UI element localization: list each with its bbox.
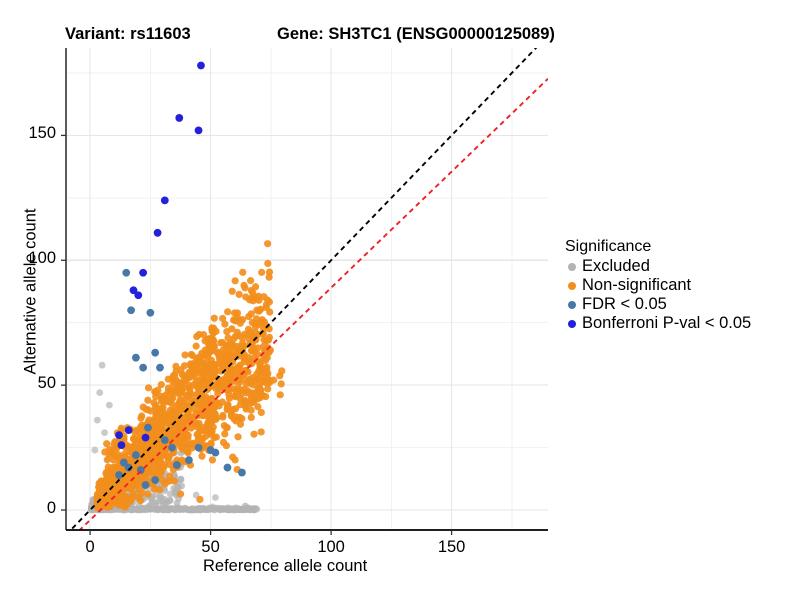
legend: Significance ExcludedNon-significantFDR … (563, 238, 800, 333)
legend-item-bonferroni-p-val-0-05: Bonferroni P-val < 0.05 (563, 314, 800, 333)
y-tick-label: 0 (0, 499, 56, 518)
x-axis-label: Reference allele count (203, 557, 367, 576)
y-axis-label: Alternative allele count (22, 177, 41, 407)
legend-dot-fdr-icon (563, 296, 580, 313)
legend-item-non-significant: Non-significant (563, 276, 800, 295)
legend-item-fdr-0-05: FDR < 0.05 (563, 295, 800, 314)
legend-item-label: Excluded (582, 257, 650, 276)
y-tick-label: 150 (0, 124, 56, 143)
x-tick-label: 100 (301, 538, 361, 557)
x-tick-label: 150 (422, 538, 482, 557)
legend-title: Significance (565, 238, 800, 256)
y-tick-label: 100 (0, 249, 56, 268)
legend-item-label: Bonferroni P-val < 0.05 (582, 314, 751, 333)
legend-items: ExcludedNon-significantFDR < 0.05Bonferr… (563, 257, 800, 333)
legend-item-label: Non-significant (582, 276, 691, 295)
legend-item-label: FDR < 0.05 (582, 295, 667, 314)
legend-dot-nonsignificant-icon (563, 277, 580, 294)
legend-item-excluded: Excluded (563, 257, 800, 276)
x-tick-label: 0 (60, 538, 120, 557)
legend-dot-bonferroni-icon (563, 315, 580, 332)
legend-dot-excluded-icon (563, 258, 580, 275)
x-tick-label: 50 (181, 538, 241, 557)
y-tick-label: 50 (0, 374, 56, 393)
